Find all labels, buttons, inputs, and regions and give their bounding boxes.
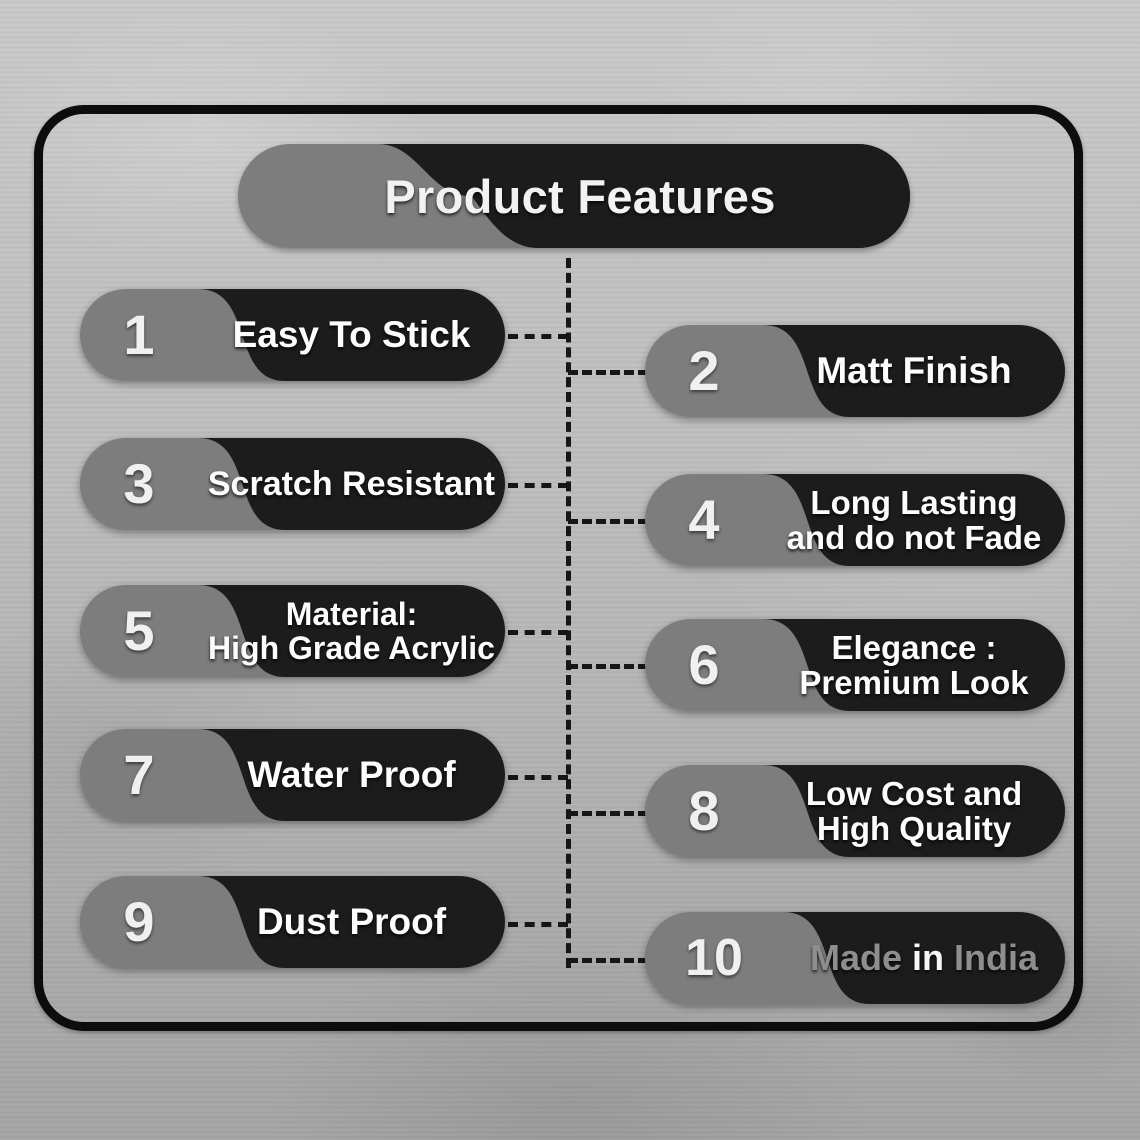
made-in-india-text: Made in India bbox=[810, 940, 1038, 977]
feature-number: 2 bbox=[645, 325, 763, 417]
feature-number: 1 bbox=[80, 289, 198, 381]
feature-label: Elegance : Premium Look bbox=[763, 619, 1065, 711]
feature-label: Material: High Grade Acrylic bbox=[198, 585, 505, 677]
infographic-canvas: Product Features 1 Easy To Stick 2 Matt … bbox=[0, 0, 1140, 1140]
feature-badge-3[interactable]: 3 Scratch Resistant bbox=[80, 438, 505, 530]
feature-label: Long Lasting and do not Fade bbox=[763, 474, 1065, 566]
feature-number: 6 bbox=[645, 619, 763, 711]
connector-branch-8 bbox=[568, 811, 648, 816]
feature-badge-2[interactable]: 2 Matt Finish bbox=[645, 325, 1065, 417]
feature-label: Dust Proof bbox=[198, 876, 505, 968]
feature-number: 9 bbox=[80, 876, 198, 968]
feature-number: 7 bbox=[80, 729, 198, 821]
connector-branch-4 bbox=[568, 519, 648, 524]
page-title: Product Features bbox=[238, 144, 910, 248]
connector-branch-2 bbox=[568, 370, 648, 375]
feature-badge-9[interactable]: 9 Dust Proof bbox=[80, 876, 505, 968]
feature-label: Matt Finish bbox=[763, 325, 1065, 417]
feature-badge-10[interactable]: 10 Made in India bbox=[645, 912, 1065, 1004]
title-banner: Product Features bbox=[238, 144, 910, 248]
feature-label: Low Cost and High Quality bbox=[763, 765, 1065, 857]
connector-branch-5 bbox=[508, 630, 568, 635]
connector-branch-1 bbox=[508, 334, 568, 339]
connector-branch-7 bbox=[508, 775, 568, 780]
feature-label: Scratch Resistant bbox=[198, 438, 505, 530]
feature-number: 8 bbox=[645, 765, 763, 857]
feature-badge-5[interactable]: 5 Material: High Grade Acrylic bbox=[80, 585, 505, 677]
feature-number: 3 bbox=[80, 438, 198, 530]
connector-branch-9 bbox=[508, 922, 568, 927]
connector-spine bbox=[566, 258, 571, 968]
feature-badge-7[interactable]: 7 Water Proof bbox=[80, 729, 505, 821]
feature-badge-6[interactable]: 6 Elegance : Premium Look bbox=[645, 619, 1065, 711]
feature-label: Water Proof bbox=[198, 729, 505, 821]
feature-label: Made in India bbox=[783, 912, 1065, 1004]
connector-branch-3 bbox=[508, 483, 568, 488]
feature-number: 10 bbox=[645, 912, 783, 1004]
feature-number: 5 bbox=[80, 585, 198, 677]
feature-number: 4 bbox=[645, 474, 763, 566]
connector-branch-6 bbox=[568, 664, 648, 669]
feature-badge-4[interactable]: 4 Long Lasting and do not Fade bbox=[645, 474, 1065, 566]
feature-badge-1[interactable]: 1 Easy To Stick bbox=[80, 289, 505, 381]
feature-badge-8[interactable]: 8 Low Cost and High Quality bbox=[645, 765, 1065, 857]
connector-branch-10 bbox=[568, 958, 648, 963]
feature-label: Easy To Stick bbox=[198, 289, 505, 381]
